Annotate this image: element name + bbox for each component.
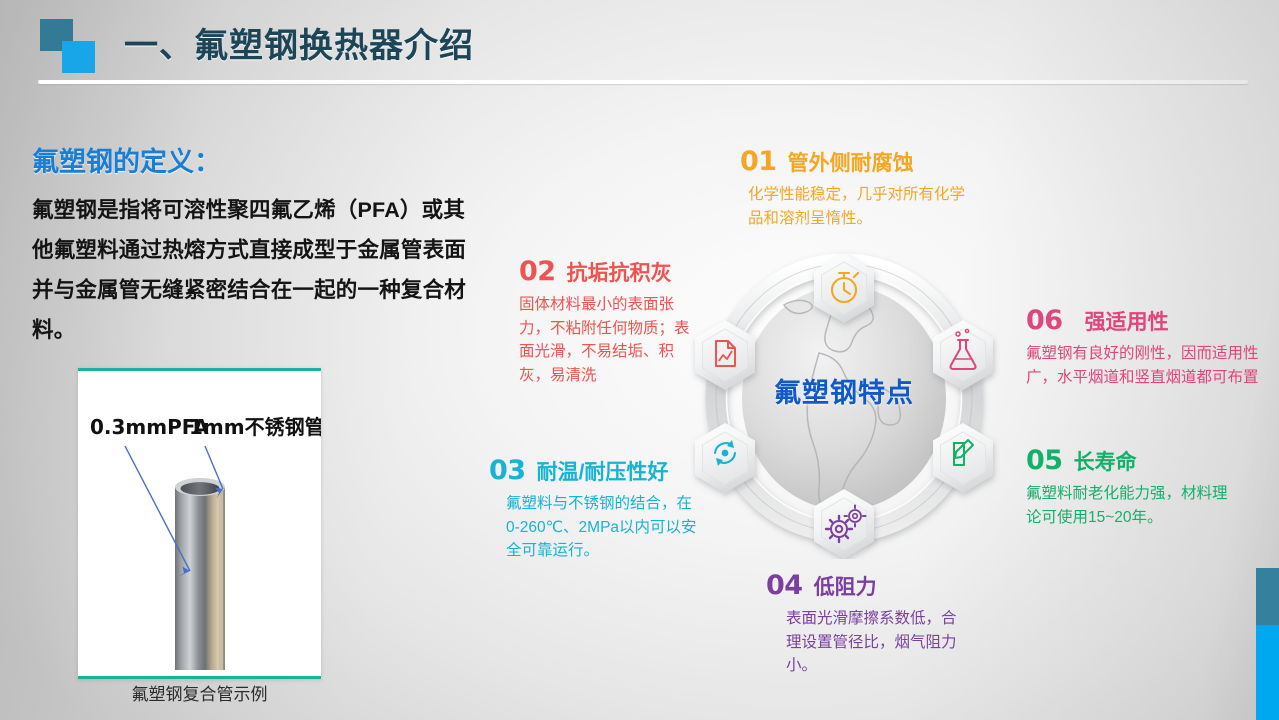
feature-callout-06: 06 强适用性 氟塑钢有良好的刚性，因而适用性广，水平烟道和竖直烟道都可布置 xyxy=(1026,305,1261,389)
header-square-blue xyxy=(62,41,95,73)
feature-callout-04: 04 低阻力 表面光滑摩擦系数低，合理设置管径比，烟气阻力小。 xyxy=(766,570,966,678)
feature-number: 05 xyxy=(1026,445,1063,476)
feature-number: 04 xyxy=(766,570,803,601)
photo-label-right: 1mm不锈钢管 xyxy=(189,415,321,439)
feature-callout-05: 05 长寿命 氟塑料耐老化能力强，材料理论可使用15~20年。 xyxy=(1026,445,1241,529)
feature-number: 01 xyxy=(740,146,777,177)
feature-body: 氟塑料耐老化能力强，材料理论可使用15~20年。 xyxy=(1026,482,1241,529)
feature-callout-03: 03 耐温/耐压性好 氟塑料与不锈钢的结合，在0-260℃、2MPa以内可以安全… xyxy=(489,455,699,563)
feature-wheel: 氟塑钢特点 xyxy=(688,237,1000,559)
feature-body: 化学性能稳定，几乎对所有化学品和溶剂呈惰性。 xyxy=(748,183,970,230)
feature-header: 03 耐温/耐压性好 xyxy=(489,455,699,486)
header-divider xyxy=(38,80,1248,84)
feature-header: 02 抗垢抗积灰 xyxy=(519,256,694,287)
feature-header: 04 低阻力 xyxy=(766,570,966,601)
accent-bar-top xyxy=(1256,568,1279,625)
feature-body: 固体材料最小的表面张力，不粘附任何物质；表面光滑，不易结垢、积灰，易清洗 xyxy=(519,293,694,387)
feature-title: 抗垢抗积灰 xyxy=(567,257,672,287)
feature-body: 氟塑钢有良好的刚性，因而适用性广，水平烟道和竖直烟道都可布置 xyxy=(1026,342,1261,389)
feature-callout-02: 02 抗垢抗积灰 固体材料最小的表面张力，不粘附任何物质；表面光滑，不易结垢、积… xyxy=(519,256,694,387)
slide-canvas: 一、氟塑钢换热器介绍 氟塑钢的定义： 氟塑钢是指将可溶性聚四氟乙烯（PFA）或其… xyxy=(0,0,1279,720)
feature-title: 耐温/耐压性好 xyxy=(537,456,669,486)
feature-title: 低阻力 xyxy=(814,571,877,601)
feature-callout-01: 01 管外侧耐腐蚀 化学性能稳定，几乎对所有化学品和溶剂呈惰性。 xyxy=(740,146,970,230)
feature-number: 03 xyxy=(489,455,526,486)
feature-header: 05 长寿命 xyxy=(1026,445,1241,476)
definition-heading: 氟塑钢的定义： xyxy=(32,140,221,179)
feature-body: 表面光滑摩擦系数低，合理设置管径比，烟气阻力小。 xyxy=(786,607,966,678)
photo-caption: 氟塑钢复合管示例 xyxy=(78,680,321,705)
feature-title: 强适用性 xyxy=(1085,306,1169,336)
page-title: 一、氟塑钢换热器介绍 xyxy=(124,18,474,67)
feature-number: 02 xyxy=(519,256,556,287)
feature-body: 氟塑料与不锈钢的结合，在0-260℃、2MPa以内可以安全可靠运行。 xyxy=(506,492,699,563)
feature-number: 06 xyxy=(1026,305,1063,336)
feature-title: 长寿命 xyxy=(1074,446,1137,476)
feature-header: 01 管外侧耐腐蚀 xyxy=(740,146,970,177)
composite-tube-photo: 0.3mmPFA 1mm不锈钢管 xyxy=(78,368,321,679)
definition-body: 氟塑钢是指将可溶性聚四氟乙烯（PFA）或其他氟塑料通过热熔方式直接成型于金属管表… xyxy=(32,190,482,350)
accent-bar-bottom xyxy=(1256,625,1279,720)
feature-header: 06 强适用性 xyxy=(1026,305,1261,336)
feature-title: 管外侧耐腐蚀 xyxy=(788,147,914,177)
